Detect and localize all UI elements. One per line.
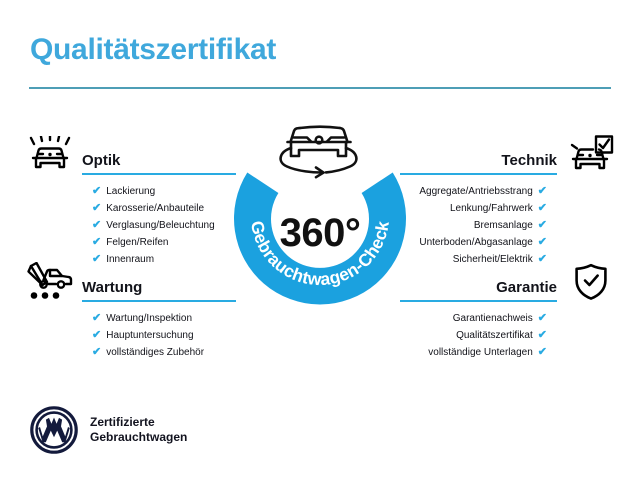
section-garantie: Garantie Garantienachweis✔ Qualitätszert… (400, 272, 557, 361)
list-item: ✔Innenraum (92, 251, 236, 268)
check-icon: ✔ (538, 313, 547, 324)
footer-logo-block: ZertifizierteGebrauchtwagen (30, 406, 187, 454)
check-icon: ✔ (538, 186, 547, 197)
car-360-rotation-icon (281, 127, 357, 178)
section-optik: Optik ✔Lackierung ✔Karosserie/Anbauteile… (82, 145, 236, 268)
section-wartung: Wartung ✔Wartung/Inspektion ✔Hauptunters… (82, 272, 236, 361)
badge-360-gebrauchtwagen-check: Gebrauchtwagen-Check 360° (222, 112, 418, 318)
qualitaetszertifikat-page: Qualitätszertifikat (0, 0, 640, 480)
check-icon: ✔ (538, 347, 547, 358)
check-icon: ✔ (538, 237, 547, 248)
list-item: ✔vollständiges Zubehör (92, 344, 236, 361)
footer-line-1: Zertifizierte (90, 415, 155, 429)
check-icon: ✔ (92, 186, 101, 197)
checklist-optik: ✔Lackierung ✔Karosserie/Anbauteile ✔Verg… (92, 183, 236, 268)
section-divider-wartung (82, 300, 236, 302)
list-item: ✔Verglasung/Beleuchtung (92, 217, 236, 234)
list-item: Unterboden/Abgasanlage✔ (400, 234, 547, 251)
section-divider-optik (82, 173, 236, 175)
check-icon: ✔ (92, 203, 101, 214)
list-item: ✔Felgen/Reifen (92, 234, 236, 251)
list-item-label: vollständige Unterlagen (428, 344, 533, 361)
section-divider-technik (400, 173, 557, 175)
list-item: Sicherheit/Elektrik✔ (400, 251, 547, 268)
footer-text: ZertifizierteGebrauchtwagen (90, 415, 187, 445)
check-icon: ✔ (538, 220, 547, 231)
list-item: Bremsanlage✔ (400, 217, 547, 234)
list-item: ✔Lackierung (92, 183, 236, 200)
list-item: Garantienachweis✔ (400, 310, 547, 327)
check-icon: ✔ (538, 254, 547, 265)
list-item-label: Sicherheit/Elektrik (453, 251, 533, 268)
list-item-label: Lackierung (106, 183, 155, 200)
list-item-label: Wartung/Inspektion (106, 310, 192, 327)
list-item-label: Bremsanlage (474, 217, 533, 234)
list-item-label: Qualitätszertifikat (456, 327, 533, 344)
section-title-technik: Technik (501, 152, 557, 169)
list-item: ✔Wartung/Inspektion (92, 310, 236, 327)
service-book-pen-car-icon (26, 262, 74, 307)
section-title-wartung: Wartung (82, 279, 142, 296)
footer-line-2: Gebrauchtwagen (90, 430, 187, 444)
check-icon: ✔ (92, 330, 101, 341)
checklist-garantie: Garantienachweis✔ Qualitätszertifikat✔ v… (400, 310, 547, 361)
list-item: Qualitätszertifikat✔ (400, 327, 547, 344)
list-item-label: vollständiges Zubehör (106, 344, 204, 361)
list-item-label: Aggregate/Antriebsstrang (419, 183, 532, 200)
car-checkbox-icon (568, 135, 614, 180)
check-icon: ✔ (92, 220, 101, 231)
list-item: Aggregate/Antriebsstrang✔ (400, 183, 547, 200)
check-icon: ✔ (92, 254, 101, 265)
list-item-label: Innenraum (106, 251, 154, 268)
list-item-label: Verglasung/Beleuchtung (106, 217, 214, 234)
checklist-wartung: ✔Wartung/Inspektion ✔Hauptuntersuchung ✔… (92, 310, 236, 361)
section-header-technik: Technik (400, 145, 557, 175)
list-item-label: Lenkung/Fahrwerk (450, 200, 533, 217)
section-header-wartung: Wartung (82, 272, 236, 302)
list-item: ✔Hauptuntersuchung (92, 327, 236, 344)
check-icon: ✔ (92, 237, 101, 248)
check-icon: ✔ (538, 330, 547, 341)
list-item-label: Hauptuntersuchung (106, 327, 193, 344)
section-divider-garantie (400, 300, 557, 302)
check-icon: ✔ (92, 347, 101, 358)
section-header-garantie: Garantie (400, 272, 557, 302)
volkswagen-logo (30, 406, 78, 454)
badge-center-text: 360° (280, 211, 361, 255)
list-item: Lenkung/Fahrwerk✔ (400, 200, 547, 217)
checklist-technik: Aggregate/Antriebsstrang✔ Lenkung/Fahrwe… (400, 183, 547, 268)
shield-check-icon (574, 263, 608, 306)
section-technik: Technik Aggregate/Antriebsstrang✔ Lenkun… (400, 145, 557, 268)
list-item-label: Felgen/Reifen (106, 234, 168, 251)
section-title-garantie: Garantie (496, 279, 557, 296)
list-item: vollständige Unterlagen✔ (400, 344, 547, 361)
section-header-optik: Optik (82, 145, 236, 175)
check-icon: ✔ (538, 203, 547, 214)
car-wash-shine-icon (28, 136, 72, 179)
list-item-label: Karosserie/Anbauteile (106, 200, 204, 217)
section-title-optik: Optik (82, 152, 120, 169)
page-title: Qualitätszertifikat (30, 33, 276, 67)
list-item: ✔Karosserie/Anbauteile (92, 200, 236, 217)
list-item-label: Unterboden/Abgasanlage (419, 234, 532, 251)
check-icon: ✔ (92, 313, 101, 324)
title-divider (29, 87, 611, 89)
list-item-label: Garantienachweis (453, 310, 533, 327)
